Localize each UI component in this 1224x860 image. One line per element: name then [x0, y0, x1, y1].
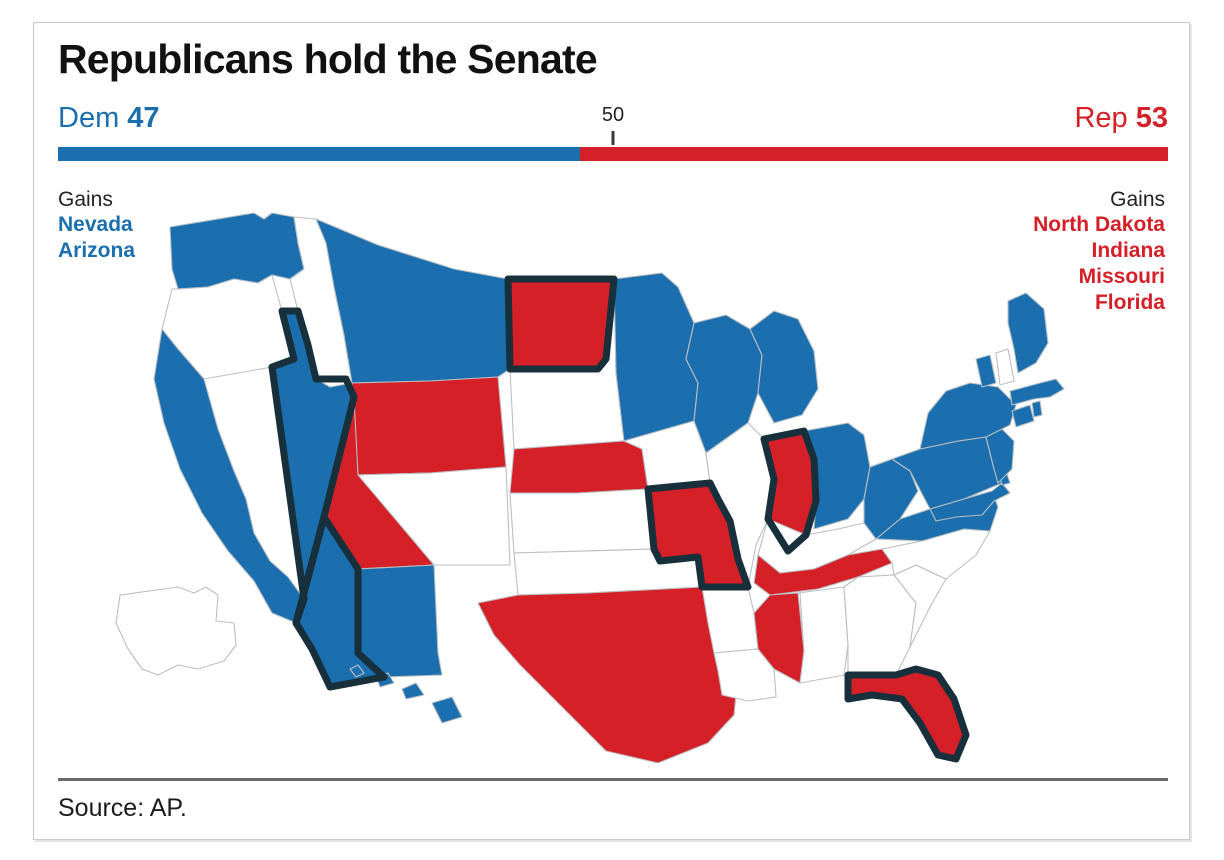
state-ma[interactable]: Massachusetts — [1010, 379, 1064, 405]
infographic-canvas: Republicans hold the Senate Dem 47 Rep 5… — [0, 0, 1224, 860]
dem-seat-count: 47 — [127, 102, 159, 134]
state-ri[interactable]: Rhode Island — [1032, 401, 1042, 417]
state-ks[interactable]: Kansas — [510, 489, 654, 553]
seat-bar-block: Dem 47 Rep 53 50 — [58, 101, 1168, 181]
dem-prefix: Dem — [58, 102, 119, 134]
state-mn[interactable]: Minnesota — [614, 273, 698, 441]
state-fl[interactable]: Florida — [848, 669, 966, 759]
rep-seat-label: Rep 53 — [1074, 101, 1168, 135]
state-tx[interactable]: Texas — [478, 587, 738, 763]
state-al[interactable]: Alabama — [798, 587, 848, 683]
state-wy[interactable]: Wyoming — [352, 377, 506, 475]
dem-seat-label: Dem 47 — [58, 101, 160, 135]
state-ne[interactable]: Nebraska — [510, 441, 648, 493]
majority-threshold-label: 50 — [602, 103, 624, 127]
source-caption: Source: AP. — [58, 793, 187, 823]
seat-bar — [58, 147, 1168, 161]
rep-bar-fill — [580, 147, 1168, 161]
majority-threshold-tick — [612, 131, 615, 145]
infographic-frame: Republicans hold the Senate Dem 47 Rep 5… — [33, 22, 1190, 840]
state-mi[interactable]: Michigan — [750, 311, 818, 423]
state-me[interactable]: Maine — [1008, 293, 1048, 373]
state-nd[interactable]: North Dakota — [508, 279, 614, 369]
us-map-svg: WashingtonOregonCaliforniaNevadaIdahoMon… — [58, 183, 1168, 763]
us-senate-map: WashingtonOregonCaliforniaNevadaIdahoMon… — [58, 183, 1168, 763]
state-wa[interactable]: Washington — [170, 213, 304, 289]
footer-divider — [58, 778, 1168, 781]
dem-bar-fill — [58, 147, 580, 161]
page-title: Republicans hold the Senate — [58, 35, 597, 83]
state-vt[interactable]: Vermont — [976, 355, 996, 387]
state-nh[interactable]: New Hampshire — [996, 349, 1014, 385]
state-ak[interactable]: Alaska — [116, 587, 236, 675]
rep-prefix: Rep — [1074, 102, 1127, 134]
rep-seat-count: 53 — [1136, 102, 1168, 134]
